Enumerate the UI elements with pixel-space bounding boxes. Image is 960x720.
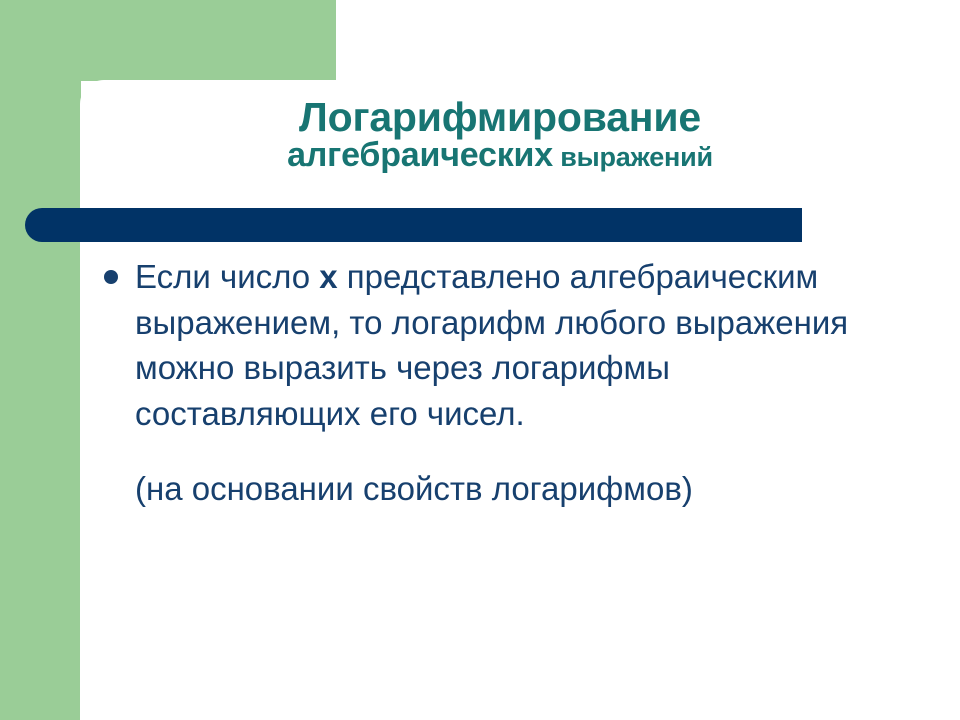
list-item: Если число х представлено алгебраическим… [100, 254, 900, 436]
bullet-text: Если число х представлено алгебраическим… [135, 254, 900, 436]
title-line-secondary: алгебраических выражений [150, 138, 850, 173]
green-left-panel [0, 0, 81, 720]
title-word-algebraic: алгебраических [287, 136, 553, 174]
slide-canvas: Логарифмирование алгебраических выражени… [0, 0, 960, 720]
title-word-expressions: выражений [553, 142, 713, 172]
title-line-primary: Логарифмирование [150, 96, 850, 138]
slide-body: Если число х представлено алгебраическим… [100, 254, 900, 512]
variable-x: х [319, 258, 337, 295]
bullet-dot-icon [104, 270, 118, 284]
slide-title: Логарифмирование алгебраических выражени… [150, 96, 850, 173]
bullet-text-part1: Если число [135, 258, 319, 295]
navy-divider-bar [25, 208, 802, 242]
note-text: (на основании свойств логарифмов) [100, 466, 900, 512]
